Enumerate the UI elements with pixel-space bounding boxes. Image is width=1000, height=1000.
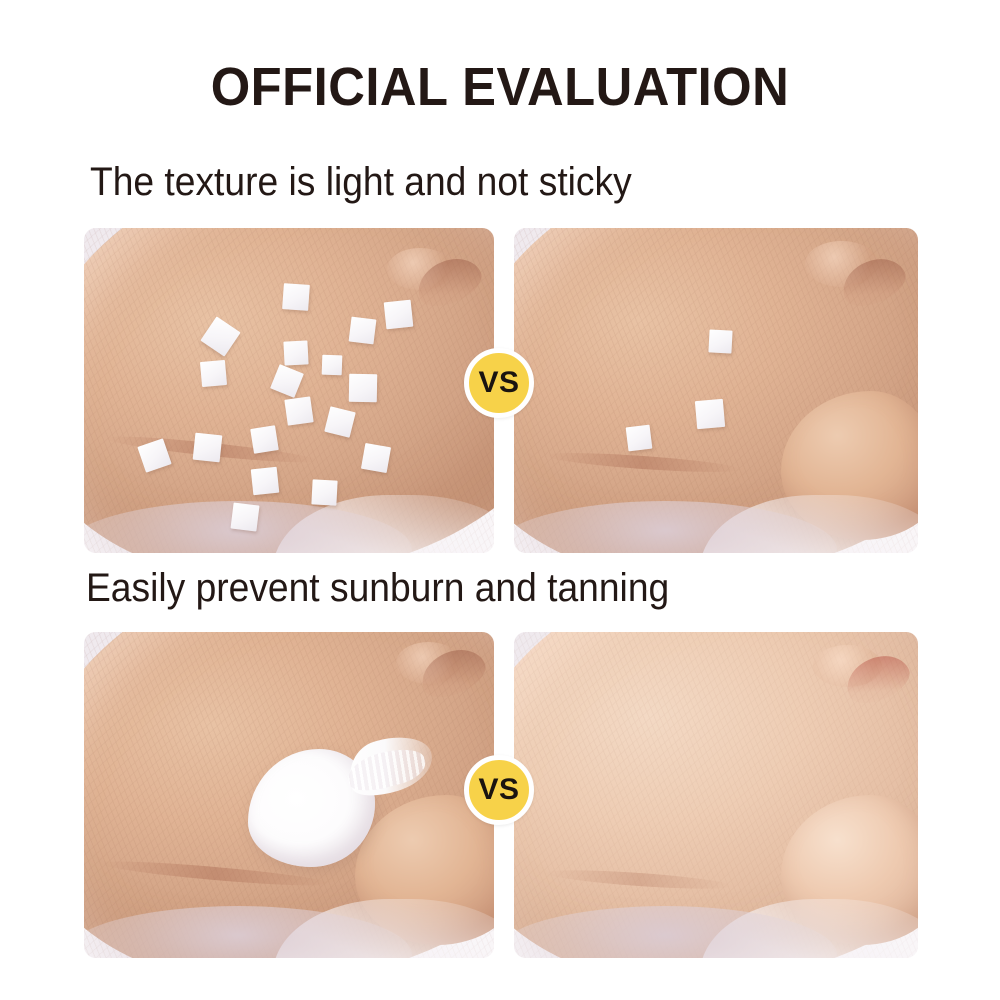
page-title: OFFICIAL EVALUATION bbox=[30, 58, 970, 116]
hand-illustration bbox=[514, 632, 918, 958]
paper-flake bbox=[251, 467, 280, 496]
vs-badge-texture: VS bbox=[464, 348, 534, 418]
paper-flake bbox=[200, 360, 227, 387]
photo-hand-few-flakes bbox=[514, 228, 918, 553]
paper-flake bbox=[311, 479, 337, 505]
paper-flake bbox=[250, 425, 279, 454]
paper-flake bbox=[349, 374, 377, 402]
paper-flake bbox=[695, 399, 725, 429]
paper-flake bbox=[361, 443, 391, 473]
section-caption-texture: The texture is light and not sticky bbox=[90, 160, 632, 204]
paper-flake bbox=[284, 396, 313, 425]
hand-illustration bbox=[514, 228, 918, 553]
paper-flake bbox=[384, 300, 414, 330]
section-caption-sunburn: Easily prevent sunburn and tanning bbox=[86, 566, 669, 610]
paper-flake bbox=[708, 329, 732, 353]
official-evaluation-page: { "page": { "title": "OFFICIAL EVALUATIO… bbox=[0, 0, 1000, 1000]
paper-flake bbox=[349, 317, 377, 345]
photo-hand-many-flakes bbox=[84, 228, 494, 553]
vs-badge-label: VS bbox=[478, 773, 519, 807]
paper-flake bbox=[626, 425, 653, 452]
paper-flake bbox=[231, 503, 260, 532]
paper-flake bbox=[322, 355, 343, 376]
photo-hand-with-cream bbox=[84, 632, 494, 958]
paper-flake bbox=[283, 340, 308, 365]
photo-hand-absorbed bbox=[514, 632, 918, 958]
paper-flake bbox=[282, 283, 310, 311]
paper-flake bbox=[193, 433, 223, 463]
vs-badge-sunburn: VS bbox=[464, 755, 534, 825]
vs-badge-label: VS bbox=[478, 366, 519, 400]
